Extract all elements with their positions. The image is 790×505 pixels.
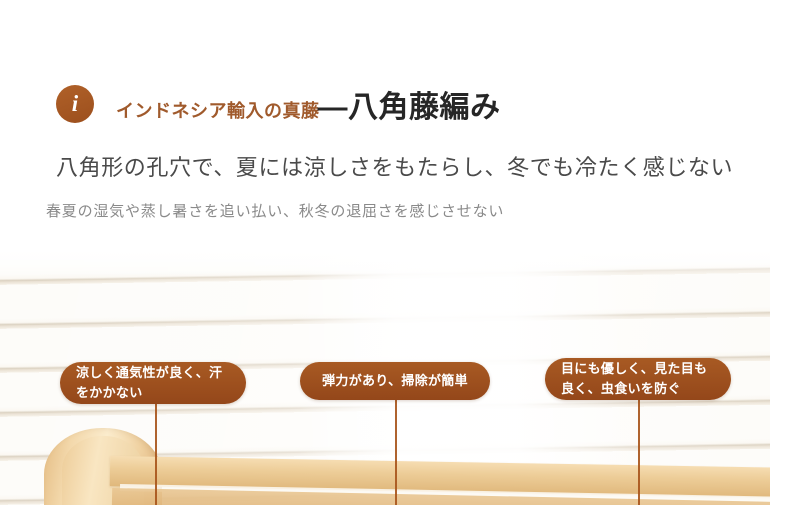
callout-badge-1: 涼しく通気性が良く、汗をかかない — [60, 362, 246, 404]
callout-pointer-line-1 — [155, 402, 157, 505]
callout-badge-3: 目にも優しく、見た目も良く、虫食いを防ぐ — [545, 358, 731, 400]
subtitle-secondary: 春夏の湿気や蒸し暑さを追い払い、秋冬の退屈さを感じさせない — [46, 200, 504, 221]
callout-badge-2-label: 弾力があり、掃除が簡単 — [322, 371, 468, 391]
callout-badge-1-label: 涼しく通気性が良く、汗をかかない — [76, 363, 230, 403]
title-main-text: —八角藤編み — [318, 82, 501, 126]
title-lead-text: インドネシア輸入の真藤 — [116, 97, 320, 123]
subtitle-primary: 八角形の孔穴で、夏には涼しさをもたらし、冬でも冷たく感じない — [56, 150, 733, 182]
header-section: i インドネシア輸入の真藤 —八角藤編み 八角形の孔穴で、夏には涼しさをもたらし… — [0, 0, 790, 250]
title-row: i インドネシア輸入の真藤 —八角藤編み — [56, 80, 501, 128]
photo-right-margin — [770, 250, 790, 505]
callout-pointer-line-2 — [395, 400, 397, 505]
info-circle-icon: i — [56, 85, 94, 123]
product-feature-panel: i インドネシア輸入の真藤 —八角藤編み 八角形の孔穴で、夏には涼しさをもたらし… — [0, 0, 790, 505]
callout-badge-2: 弾力があり、掃除が簡単 — [300, 362, 490, 400]
page-title: インドネシア輸入の真藤 —八角藤編み — [116, 82, 501, 126]
callout-pointer-line-3 — [638, 398, 640, 505]
info-icon-glyph: i — [72, 92, 78, 115]
callout-badge-3-label: 目にも優しく、見た目も良く、虫食いを防ぐ — [561, 359, 715, 399]
